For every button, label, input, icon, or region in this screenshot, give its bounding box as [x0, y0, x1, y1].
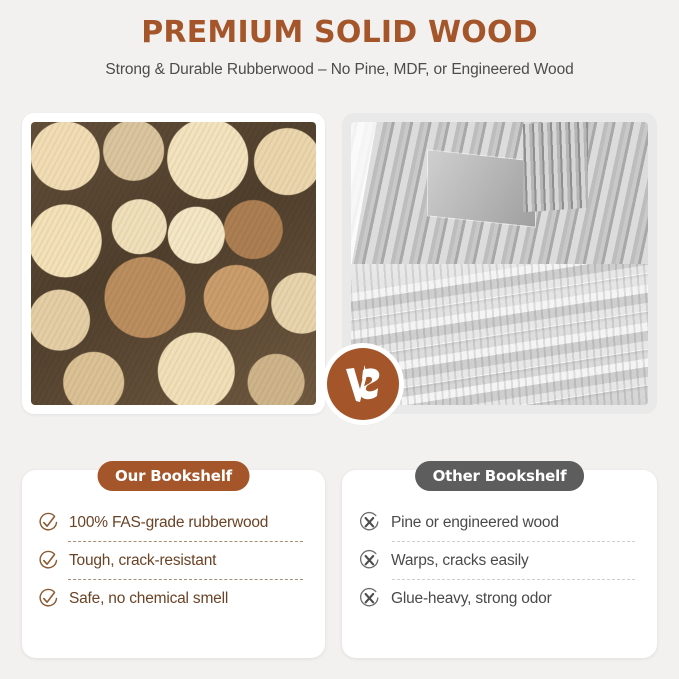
- divider: [392, 541, 635, 542]
- feature-text: Tough, crack-resistant: [69, 552, 216, 570]
- infographic-page: PREMIUM SOLID WOOD Strong & Durable Rubb…: [0, 0, 679, 679]
- comparison-cards: Our Bookshelf 100% FAS-grade rubberwood: [22, 462, 657, 658]
- other-bookshelf-card: Other Bookshelf Pine or engineered wood: [342, 470, 657, 658]
- check-circle-icon: [38, 588, 59, 609]
- divider: [68, 579, 303, 580]
- list-item: 100% FAS-grade rubberwood: [38, 504, 309, 541]
- page-subtitle: Strong & Durable Rubberwood – No Pine, M…: [0, 61, 679, 79]
- other-feature-list: Pine or engineered wood Warps, cracks ea…: [342, 504, 657, 617]
- our-feature-list: 100% FAS-grade rubberwood Tough, crack-r…: [22, 504, 325, 617]
- x-circle-icon: [358, 549, 381, 572]
- our-bookshelf-badge: Our Bookshelf: [97, 461, 250, 491]
- list-item: Safe, no chemical smell: [38, 580, 309, 617]
- divider: [68, 541, 303, 542]
- header: PREMIUM SOLID WOOD Strong & Durable Rubb…: [0, 16, 679, 79]
- vs-badge: [327, 348, 399, 420]
- other-bookshelf-badge: Other Bookshelf: [415, 461, 585, 491]
- list-item: Warps, cracks easily: [358, 542, 641, 579]
- divider: [392, 579, 635, 580]
- feature-text: Safe, no chemical smell: [69, 590, 228, 608]
- feature-text: Warps, cracks easily: [391, 552, 529, 570]
- list-item: Glue-heavy, strong odor: [358, 580, 641, 617]
- logs-photo: [31, 122, 316, 405]
- check-circle-icon: [38, 550, 59, 571]
- vs-icon: [340, 361, 386, 407]
- image-comparison: [22, 113, 657, 414]
- list-item: Pine or engineered wood: [358, 504, 641, 541]
- check-circle-icon: [38, 512, 59, 533]
- x-circle-icon: [358, 511, 381, 534]
- x-circle-icon: [358, 587, 381, 610]
- feature-text: 100% FAS-grade rubberwood: [69, 514, 268, 532]
- our-bookshelf-card: Our Bookshelf 100% FAS-grade rubberwood: [22, 470, 325, 658]
- list-item: Tough, crack-resistant: [38, 542, 309, 579]
- page-title: PREMIUM SOLID WOOD: [0, 16, 679, 49]
- solid-wood-photo-panel: [22, 113, 325, 414]
- feature-text: Glue-heavy, strong odor: [391, 590, 552, 608]
- feature-text: Pine or engineered wood: [391, 514, 559, 532]
- pine-lumber-image: [351, 122, 648, 264]
- grayscale-lumber-photo: [351, 122, 648, 405]
